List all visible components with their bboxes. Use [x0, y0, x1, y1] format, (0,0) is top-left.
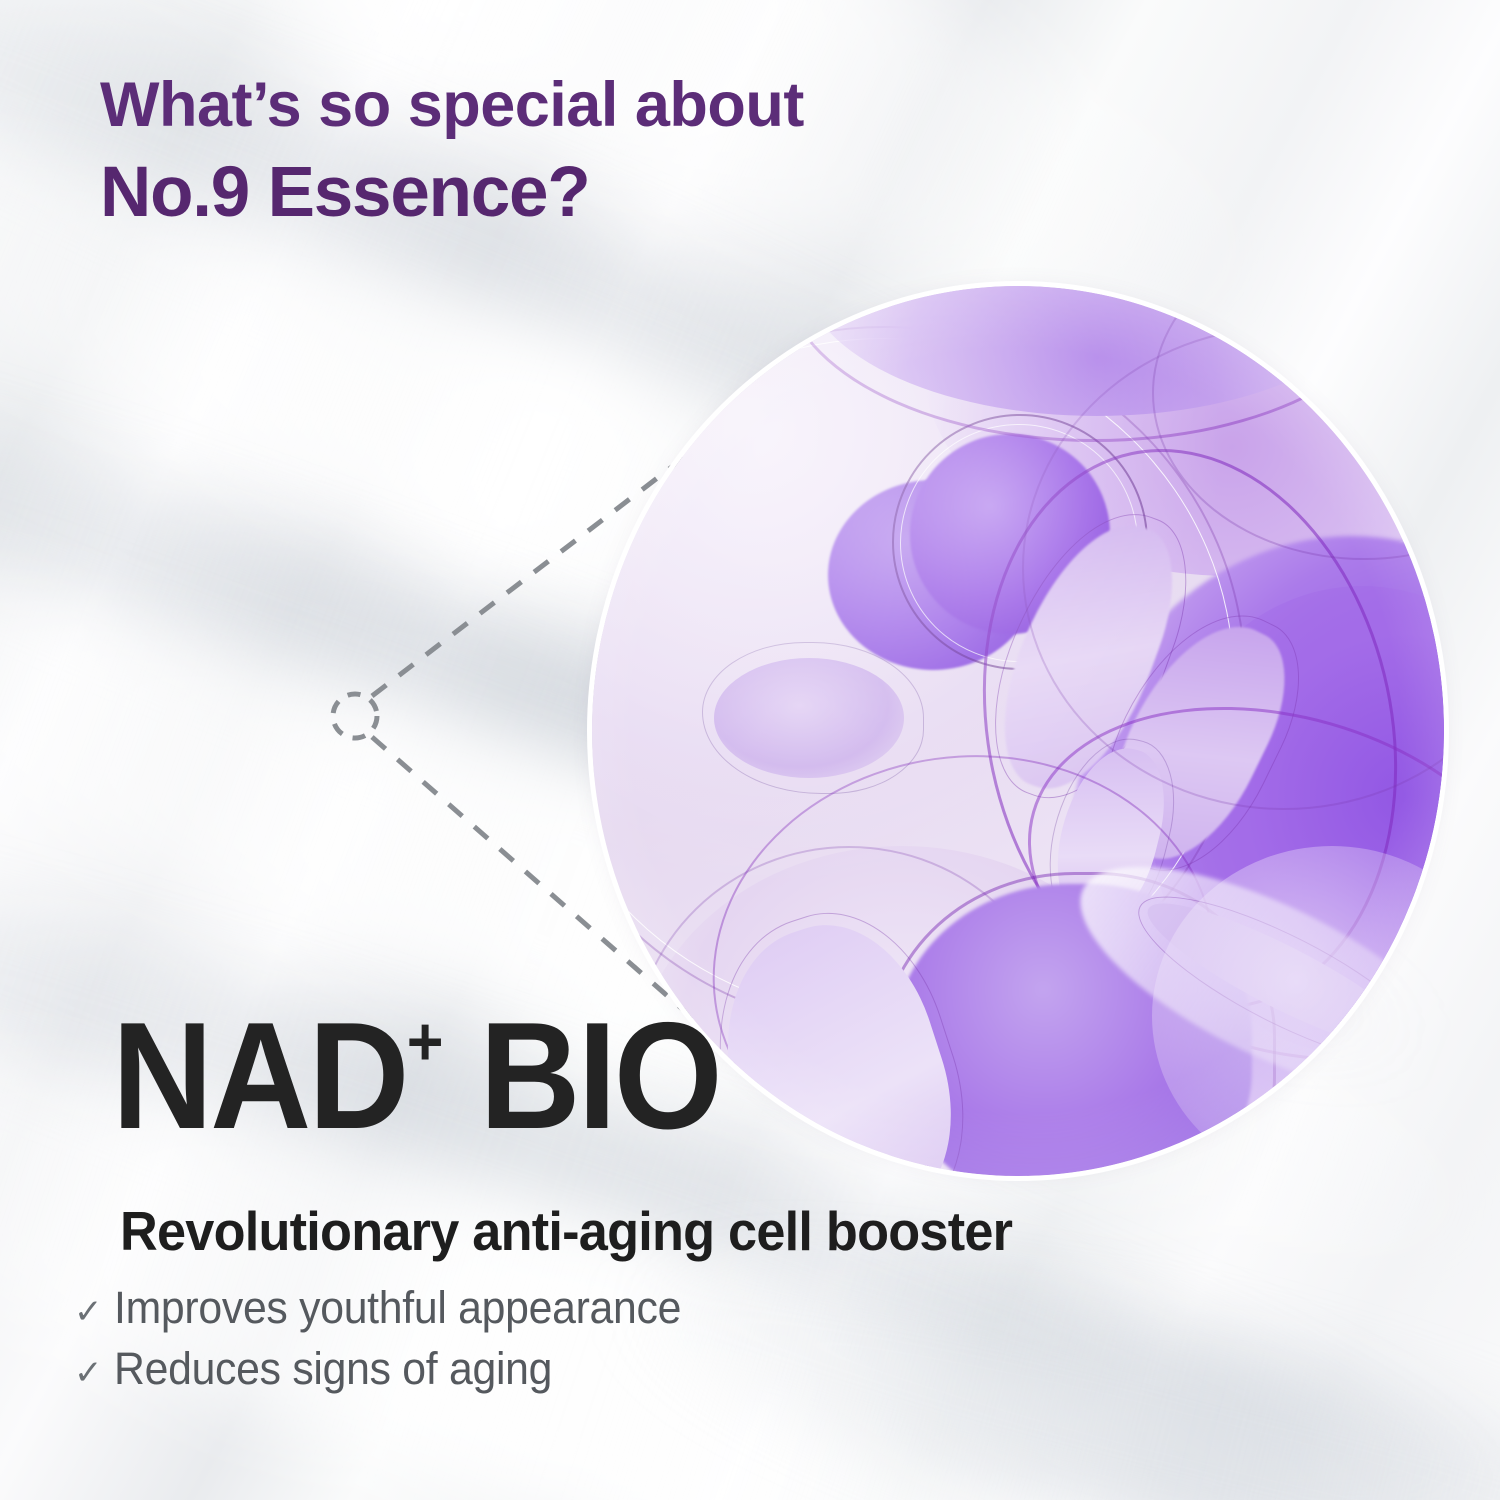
product-name: NAD+ BIO [112, 1000, 720, 1152]
benefit-label: Improves youthful appearance [114, 1284, 681, 1331]
product-name-suffix: BIO [443, 991, 719, 1161]
list-item: ✓ Improves youthful appearance [74, 1284, 711, 1331]
check-icon: ✓ [74, 1295, 114, 1329]
product-name-superscript: + [407, 1004, 444, 1080]
product-name-base: NAD [112, 991, 407, 1161]
check-icon: ✓ [74, 1356, 114, 1390]
headline-line-2: No.9 Essence? [100, 157, 804, 228]
promo-banner: What’s so special about No.9 Essence? NA… [0, 0, 1500, 1500]
headline-line-1: What’s so special about [100, 74, 804, 137]
list-item: ✓ Reduces signs of aging [74, 1345, 711, 1392]
product-subtitle: Revolutionary anti-aging cell booster [120, 1199, 1012, 1263]
benefit-label: Reduces signs of aging [114, 1345, 552, 1392]
headline: What’s so special about No.9 Essence? [100, 74, 804, 228]
dashed-circle-icon [333, 694, 377, 738]
benefit-list: ✓ Improves youthful appearance ✓ Reduces… [74, 1284, 711, 1407]
